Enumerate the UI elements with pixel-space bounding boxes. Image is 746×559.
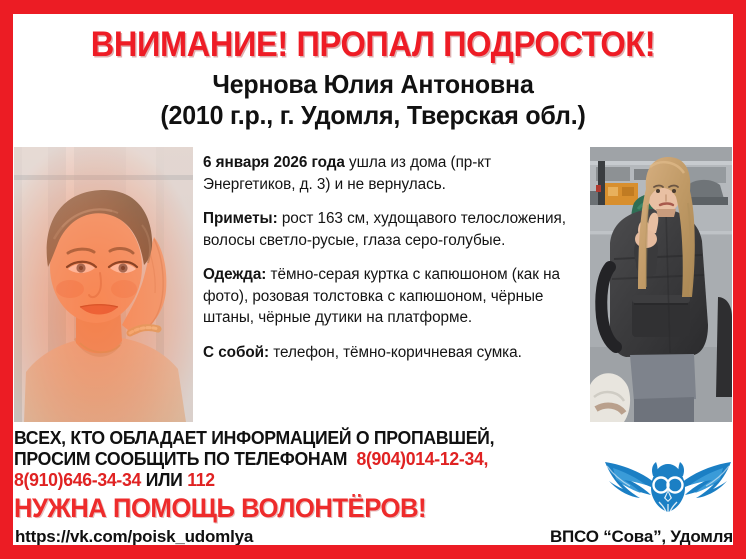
cta-line-1: ВСЕХ, КТО ОБЛАДАЕТ ИНФОРМАЦИЕЙ О ПРОПАВШ… <box>14 428 557 449</box>
missing-person-birth-info: (2010 г.р., г. Удомля, Тверская обл.) <box>27 100 718 130</box>
cta-or-word: ИЛИ <box>146 470 183 490</box>
detail-belongings-text: телефон, тёмно-коричневая сумка. <box>269 344 522 361</box>
owl-logo-icon <box>603 448 733 520</box>
detail-belongings-label: С собой: <box>203 344 269 361</box>
missing-person-poster: ВНИМАНИЕ! ПРОПАЛ ПОДРОСТОК! Чернова Юлия… <box>0 0 746 559</box>
details-block: 6 января 2026 года ушла из дома (пр-кт Э… <box>203 152 585 363</box>
poster-headline: ВНИМАНИЕ! ПРОПАЛ ПОДРОСТОК! <box>38 26 708 64</box>
poster-inner: ВНИМАНИЕ! ПРОПАЛ ПОДРОСТОК! Чернова Юлия… <box>13 14 733 545</box>
organization-name: ВПСО “Сова”, Удомля <box>541 527 733 545</box>
vk-group-link[interactable]: https://vk.com/poisk_udomlya <box>15 527 253 545</box>
portrait-photo-closeup <box>14 147 193 422</box>
cta-line-3: 8(910)646-34-34 ИЛИ 112 <box>14 470 557 491</box>
missing-person-name: Чернова Юлия Антоновна <box>27 69 718 99</box>
detail-clothing-label: Одежда: <box>203 266 266 283</box>
volunteers-needed-text: НУЖНА ПОМОЩЬ ВОЛОНТЁРОВ! <box>14 493 426 523</box>
detail-features: Приметы: рост 163 см, худощавого телосло… <box>203 208 585 251</box>
full-body-photo-outdoors <box>590 147 732 422</box>
phone-number-2[interactable]: 8(910)646-34-34 <box>14 470 141 490</box>
detail-clothing: Одежда: тёмно-серая куртка с капюшоном (… <box>203 264 585 329</box>
detail-disappearance-date: 6 января 2026 года <box>203 154 345 171</box>
detail-features-label: Приметы: <box>203 210 278 227</box>
phone-number-1[interactable]: 8(904)014-12-34, <box>356 449 488 469</box>
phone-number-3[interactable]: 112 <box>187 470 215 490</box>
detail-belongings: С собой: телефон, тёмно-коричневая сумка… <box>203 342 585 364</box>
detail-disappearance: 6 января 2026 года ушла из дома (пр-кт Э… <box>203 152 585 195</box>
cta-line-2: ПРОСИМ СООБЩИТЬ ПО ТЕЛЕФОНАМ 8(904)014-1… <box>14 449 557 470</box>
call-to-action-block: ВСЕХ, КТО ОБЛАДАЕТ ИНФОРМАЦИЕЙ О ПРОПАВШ… <box>14 428 574 491</box>
cta-phone-prefix: ПРОСИМ СООБЩИТЬ ПО ТЕЛЕФОНАМ <box>14 449 347 469</box>
